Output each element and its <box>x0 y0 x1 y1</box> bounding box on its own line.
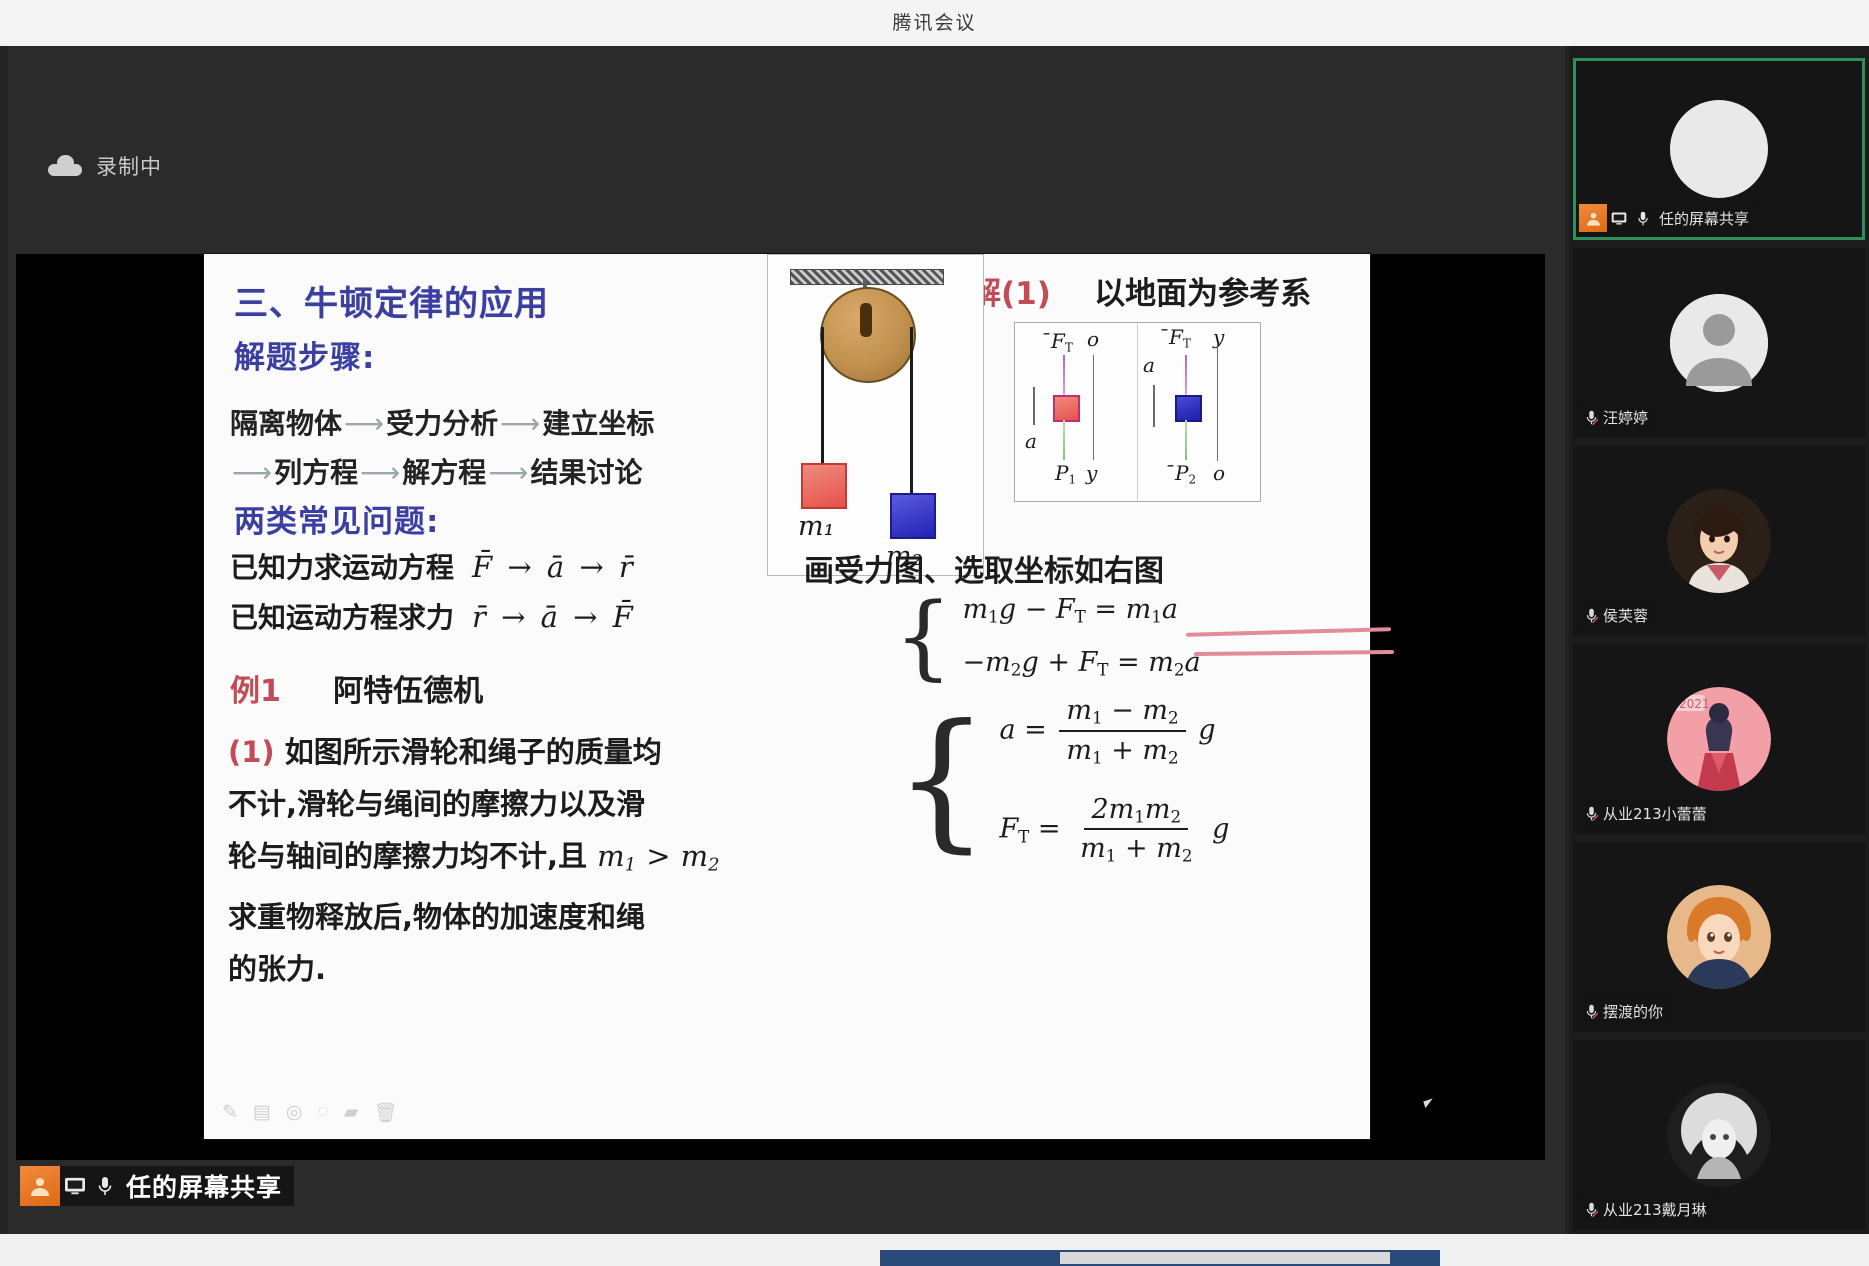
ceiling-hatch-icon <box>790 269 944 285</box>
participant-name-0: 任的屏幕共享 <box>1655 208 1758 229</box>
fbd-left-y-axis <box>1093 355 1094 460</box>
shared-content-area: 三、牛顿定律的应用 解题步骤: 隔离物体⟶受力分析⟶建立坐标 ⟶列方程⟶解方程⟶… <box>16 254 1545 1160</box>
mass-block-2 <box>890 493 936 539</box>
fbd-right-weight-label: ̄P2 <box>1175 461 1196 487</box>
shape-icon[interactable]: ◌ <box>317 1101 328 1125</box>
clear-icon[interactable]: 🗑 <box>373 1101 397 1125</box>
fbd-left-origin-label: o <box>1087 327 1099 351</box>
participant-tile-3[interactable]: 2021 从业213小蕾蕾 <box>1573 644 1865 834</box>
participant-name-4: 摆渡的你 <box>1603 1001 1663 1022</box>
flow-row-2: ⟶列方程⟶解方程⟶结果讨论 <box>230 451 642 491</box>
example-body: (1) 如图所示滑轮和绳子的质量均 不计,滑轮与绳间的摩擦力以及滑 轮与轴间的摩… <box>228 726 788 995</box>
problem-1-chain: F̄ → ā → r̄ <box>454 550 636 584</box>
fbd-right-tension-symbol: F <box>1169 325 1183 349</box>
participant-nametag-4: 摆渡的你 <box>1579 998 1672 1024</box>
avatar <box>1667 1083 1771 1187</box>
mass1-label: m₁ <box>798 511 834 542</box>
fbd-left-tension-arrow <box>1063 355 1065 395</box>
fbd-left-weight-arrow <box>1063 420 1065 460</box>
pulley-axle <box>860 303 872 337</box>
participant-nametag-3: 从业213小蕾蕾 <box>1579 800 1716 826</box>
screen-share-icon <box>60 1176 90 1196</box>
annotation-underline-1 <box>1186 627 1391 637</box>
flow-step: 列方程 <box>274 456 358 489</box>
fbd-right-accel-symbol: a <box>1143 353 1155 377</box>
fbd-left-weight-label: P1 <box>1055 461 1076 487</box>
fbd-right-block <box>1175 395 1202 422</box>
cloud-icon <box>48 156 82 176</box>
arrow-icon: ⟶ <box>486 456 530 489</box>
problem-type-1: 已知力求运动方程F̄ → ā → r̄ <box>230 546 636 586</box>
arrow-icon: ⟶ <box>230 456 274 489</box>
pen-icon[interactable]: ✎ <box>222 1101 238 1125</box>
shared-screen-stage[interactable]: 录制中 三、牛顿定律的应用 解题步骤: 隔离物体⟶受力分析⟶建立坐标 ⟶列方程⟶… <box>8 46 1565 1234</box>
participant-rail[interactable]: 任的屏幕共享 汪婷婷 <box>1569 46 1869 1234</box>
participant-nametag-2: 侯芙蓉 <box>1579 602 1657 628</box>
fbd-right-origin-label: o <box>1213 461 1225 485</box>
mass1-subscript: 1 <box>625 854 636 875</box>
microphone-icon <box>90 1176 120 1196</box>
ink-toolbar[interactable]: ✎ ▤ ◎ ◌ ▰ 🗑 <box>222 1101 398 1125</box>
flow-step: 建立坐标 <box>542 407 654 440</box>
slide-section2-heading: 两类常见问题: <box>234 496 439 541</box>
fbd-right-accel-label: a <box>1143 353 1155 377</box>
problem-2-chain: r̄ → ā → F̄ <box>454 600 636 634</box>
fbd-right-tension-label: ̄FT <box>1169 325 1191 351</box>
participant-name-3: 从业213小蕾蕾 <box>1603 803 1707 824</box>
fbd-left-accel-label: a <box>1025 429 1037 453</box>
mouse-pointer-icon <box>1423 1097 1439 1108</box>
example-line-3: 轮与轴间的摩擦力均不计,且 <box>228 839 587 873</box>
avatar <box>1670 294 1768 392</box>
fbd-left-tension-sub: T <box>1065 341 1073 355</box>
example-line-1: 如图所示滑轮和绳子的质量均 <box>285 735 662 769</box>
fbd-left-panel: ̄FT o a P1 <box>1015 323 1138 501</box>
participant-tile-5[interactable]: 从业213戴月琳 <box>1573 1040 1865 1230</box>
svg-text:2021: 2021 <box>1679 697 1710 711</box>
example-line-5: 的张力. <box>228 952 326 986</box>
fbd-right-accel-arrow <box>1153 385 1155 427</box>
atwood-machine-diagram: m₁ m₂ <box>767 254 984 576</box>
microphone-muted-icon <box>1579 410 1603 425</box>
greater-than-symbol: > <box>646 839 670 873</box>
mass2-symbol: m <box>681 839 709 873</box>
participant-nametag-0: 任的屏幕共享 <box>1579 204 1758 232</box>
example-line-4: 求重物释放后,物体的加速度和绳 <box>228 900 645 934</box>
participant-name-5: 从业213戴月琳 <box>1603 1199 1707 1220</box>
screen-share-icon <box>1607 211 1631 226</box>
circle-icon[interactable]: ◎ <box>286 1101 303 1125</box>
slide-heading: 三、牛顿定律的应用 <box>234 276 549 325</box>
brace-icon: { <box>894 717 989 845</box>
microphone-muted-icon <box>1579 1202 1603 1217</box>
fbd-right-weight-symbol: P <box>1175 461 1188 485</box>
tencent-meeting-window: 腾讯会议 录制中 三、牛顿定律的应用 解题步骤: 隔离物体⟶受力分析⟶建立坐标 … <box>0 0 1869 1266</box>
example-marker: (1) <box>228 735 275 769</box>
taskbar-band-inner <box>1060 1252 1390 1264</box>
mass1-symbol: m <box>597 839 625 873</box>
microphone-icon <box>1631 211 1655 226</box>
fbd-right-tension-sub: T <box>1183 337 1191 351</box>
fbd-right-axis-label: y <box>1213 325 1224 349</box>
solution-heading-row: 解(1) 以地面为参考系 <box>970 268 1311 313</box>
participant-nametag-5: 从业213戴月琳 <box>1579 1196 1716 1222</box>
arrow-icon: ⟶ <box>498 407 542 440</box>
person-avatar-icon <box>20 1166 60 1206</box>
problem-1-text: 已知力求运动方程 <box>230 551 454 584</box>
participant-tile-0[interactable]: 任的屏幕共享 <box>1573 58 1865 240</box>
participant-nametag-1: 汪婷婷 <box>1579 404 1657 430</box>
participant-name-1: 汪婷婷 <box>1603 407 1648 428</box>
avatar: 2021 <box>1667 687 1771 791</box>
fbd-right-y-axis <box>1217 343 1218 461</box>
equation-block: { m1g − FT = m1a −m2g + FT = m2a <box>894 594 1324 866</box>
flow-step: 结果讨论 <box>530 456 642 489</box>
equation-3: a = m1 − m2 m1 + m2 g <box>999 695 1229 767</box>
equation-2: −m2g + FT = m2a <box>963 647 1201 680</box>
window-title: 腾讯会议 <box>0 0 1869 46</box>
fbd-right-panel: ̄FT y a ̄P2 <box>1137 323 1259 501</box>
equation-group-1: { m1g − FT = m1a −m2g + FT = m2a <box>894 594 1324 679</box>
example-title: 阿特伍德机 <box>333 674 483 709</box>
screen-share-owner-tag: 任的屏幕共享 <box>20 1166 294 1206</box>
eraser-icon[interactable]: ▰ <box>344 1101 359 1125</box>
equation-1: m1g − FT = m1a <box>963 594 1201 627</box>
example-number: 例1 <box>230 674 281 709</box>
rope-right <box>910 327 913 495</box>
fbd-left-tension-symbol: F <box>1051 329 1065 353</box>
fbd-left-weight-symbol: P <box>1055 461 1068 485</box>
participant-name-2: 侯芙蓉 <box>1603 605 1648 626</box>
avatar <box>1667 489 1771 593</box>
solution-heading: 以地面为参考系 <box>1094 276 1311 312</box>
fbd-left-tension-label: ̄FT <box>1051 329 1073 355</box>
participant-tile-2[interactable]: 侯芙蓉 <box>1573 446 1865 636</box>
mass-block-1 <box>801 463 847 509</box>
recording-indicator: 录制中 <box>48 151 162 181</box>
fbd-left-accel-arrow <box>1033 387 1035 425</box>
fbd-left-accel-symbol: a <box>1025 429 1037 453</box>
slide-subheading: 解题步骤: <box>234 332 375 377</box>
mass2-subscript: 2 <box>708 854 719 875</box>
person-avatar-icon <box>1579 204 1607 232</box>
free-body-diagram: ̄FT o a P1 <box>1014 322 1261 502</box>
arrow-icon: ⟶ <box>358 456 402 489</box>
fbd-right-weight-arrow <box>1185 420 1187 460</box>
fbd-left-weight-sub: 1 <box>1068 473 1076 487</box>
problem-type-2: 已知运动方程求力r̄ → ā → F̄ <box>230 596 636 636</box>
fbd-left-block <box>1053 395 1080 422</box>
microphone-muted-icon <box>1579 608 1603 623</box>
equation-group-2: { a = m1 − m2 m1 + m2 g <box>894 695 1324 866</box>
recording-label: 录制中 <box>96 151 162 181</box>
slide-caption: 画受力图、选取坐标如右图 <box>804 546 1164 590</box>
flow-step: 隔离物体 <box>230 407 342 440</box>
highlighter-icon[interactable]: ▤ <box>253 1101 271 1125</box>
brace-icon: { <box>894 598 953 676</box>
fbd-right-weight-sub: 2 <box>1188 473 1196 487</box>
fbd-right-tension-arrow <box>1185 355 1187 395</box>
microphone-muted-icon <box>1579 1004 1603 1019</box>
presentation-slide: 三、牛顿定律的应用 解题步骤: 隔离物体⟶受力分析⟶建立坐标 ⟶列方程⟶解方程⟶… <box>204 254 1370 1139</box>
flow-row-1: 隔离物体⟶受力分析⟶建立坐标 <box>230 402 654 442</box>
meeting-body: 录制中 三、牛顿定律的应用 解题步骤: 隔离物体⟶受力分析⟶建立坐标 ⟶列方程⟶… <box>0 46 1869 1234</box>
example-title-row: 例1 阿特伍德机 <box>230 666 483 710</box>
example-line-2: 不计,滑轮与绳间的摩擦力以及滑 <box>228 787 645 821</box>
arrow-icon: ⟶ <box>342 407 386 440</box>
avatar <box>1667 885 1771 989</box>
screen-share-owner-name: 任的屏幕共享 <box>120 1168 294 1204</box>
microphone-muted-icon <box>1579 806 1603 821</box>
avatar <box>1670 100 1768 198</box>
fbd-left-axis-label: y <box>1086 461 1097 485</box>
participant-tile-4[interactable]: 摆渡的你 <box>1573 842 1865 1032</box>
rope-left <box>821 327 824 465</box>
window-titlebar: 腾讯会议 <box>0 0 1869 46</box>
flow-step: 解方程 <box>402 456 486 489</box>
participant-tile-1[interactable]: 汪婷婷 <box>1573 248 1865 438</box>
equation-4: FT = 2m1m2 m1 + m2 g <box>999 794 1229 866</box>
problem-2-text: 已知运动方程求力 <box>230 601 454 634</box>
flow-step: 受力分析 <box>386 407 498 440</box>
